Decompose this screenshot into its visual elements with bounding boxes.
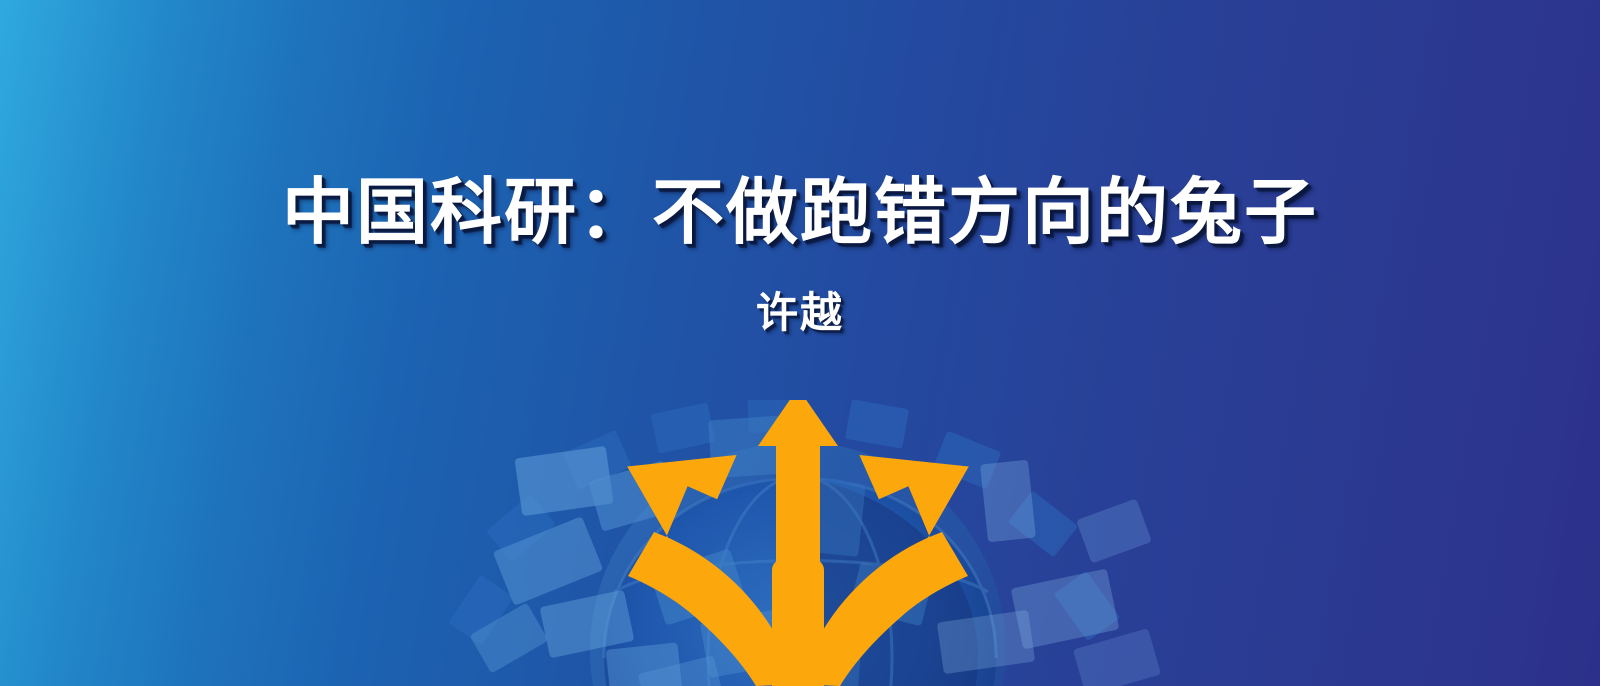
three-way-arrow-illustration (418, 400, 1178, 686)
illustration-content (448, 400, 1161, 686)
presentation-slide: 中国科研：不做跑错方向的兔子 许越 (0, 0, 1600, 686)
illustration-svg (418, 400, 1178, 686)
